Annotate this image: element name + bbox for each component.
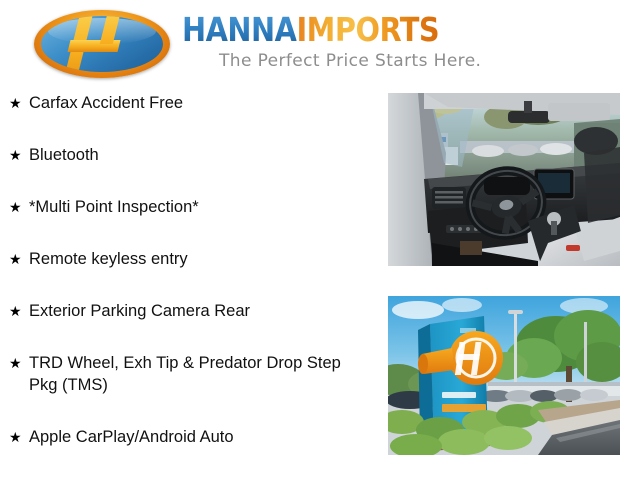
- star-bullet-icon: ★: [9, 248, 29, 270]
- list-item: ★ Carfax Accident Free: [0, 92, 370, 114]
- feature-label: Apple CarPlay/Android Auto: [29, 426, 370, 448]
- feature-label: *Multi Point Inspection*: [29, 196, 370, 218]
- vehicle-interior-illustration: [388, 93, 620, 266]
- brand-name-imports: IMPORTS: [296, 10, 439, 49]
- star-bullet-icon: ★: [9, 144, 29, 166]
- vehicle-interior-photo[interactable]: [388, 93, 620, 266]
- feature-label: Remote keyless entry: [29, 248, 370, 270]
- brand-name-hanna: HANNA: [182, 10, 296, 49]
- list-item: ★ *Multi Point Inspection*: [0, 196, 370, 218]
- list-item: ★ TRD Wheel, Exh Tip & Predator Drop Ste…: [0, 352, 370, 396]
- hanna-h-oval-logo-icon: [34, 10, 170, 78]
- brand-tagline: The Perfect Price Starts Here.: [219, 51, 481, 71]
- list-item: ★ Exterior Parking Camera Rear: [0, 300, 370, 322]
- brand-header: HANNAIMPORTS The Perfect Price Starts He…: [0, 0, 640, 88]
- list-item: ★ Apple CarPlay/Android Auto: [0, 426, 370, 448]
- star-bullet-icon: ★: [9, 426, 29, 448]
- star-bullet-icon: ★: [9, 196, 29, 218]
- feature-label: Carfax Accident Free: [29, 92, 370, 114]
- logo-oval-field: [41, 16, 163, 72]
- brand-wordmark: HANNAIMPORTS: [182, 13, 439, 46]
- feature-label: Bluetooth: [29, 144, 370, 166]
- vehicle-feature-list: ★ Carfax Accident Free ★ Bluetooth ★ *Mu…: [0, 92, 370, 478]
- feature-label: TRD Wheel, Exh Tip & Predator Drop Step …: [29, 352, 370, 396]
- star-bullet-icon: ★: [9, 352, 29, 374]
- star-bullet-icon: ★: [9, 300, 29, 322]
- list-item: ★ Remote keyless entry: [0, 248, 370, 270]
- dealership-sign-photo[interactable]: [388, 296, 620, 455]
- feature-label: Exterior Parking Camera Rear: [29, 300, 370, 322]
- star-bullet-icon: ★: [9, 92, 29, 114]
- list-item: ★ Bluetooth: [0, 144, 370, 166]
- dealership-sign-illustration: [388, 296, 620, 455]
